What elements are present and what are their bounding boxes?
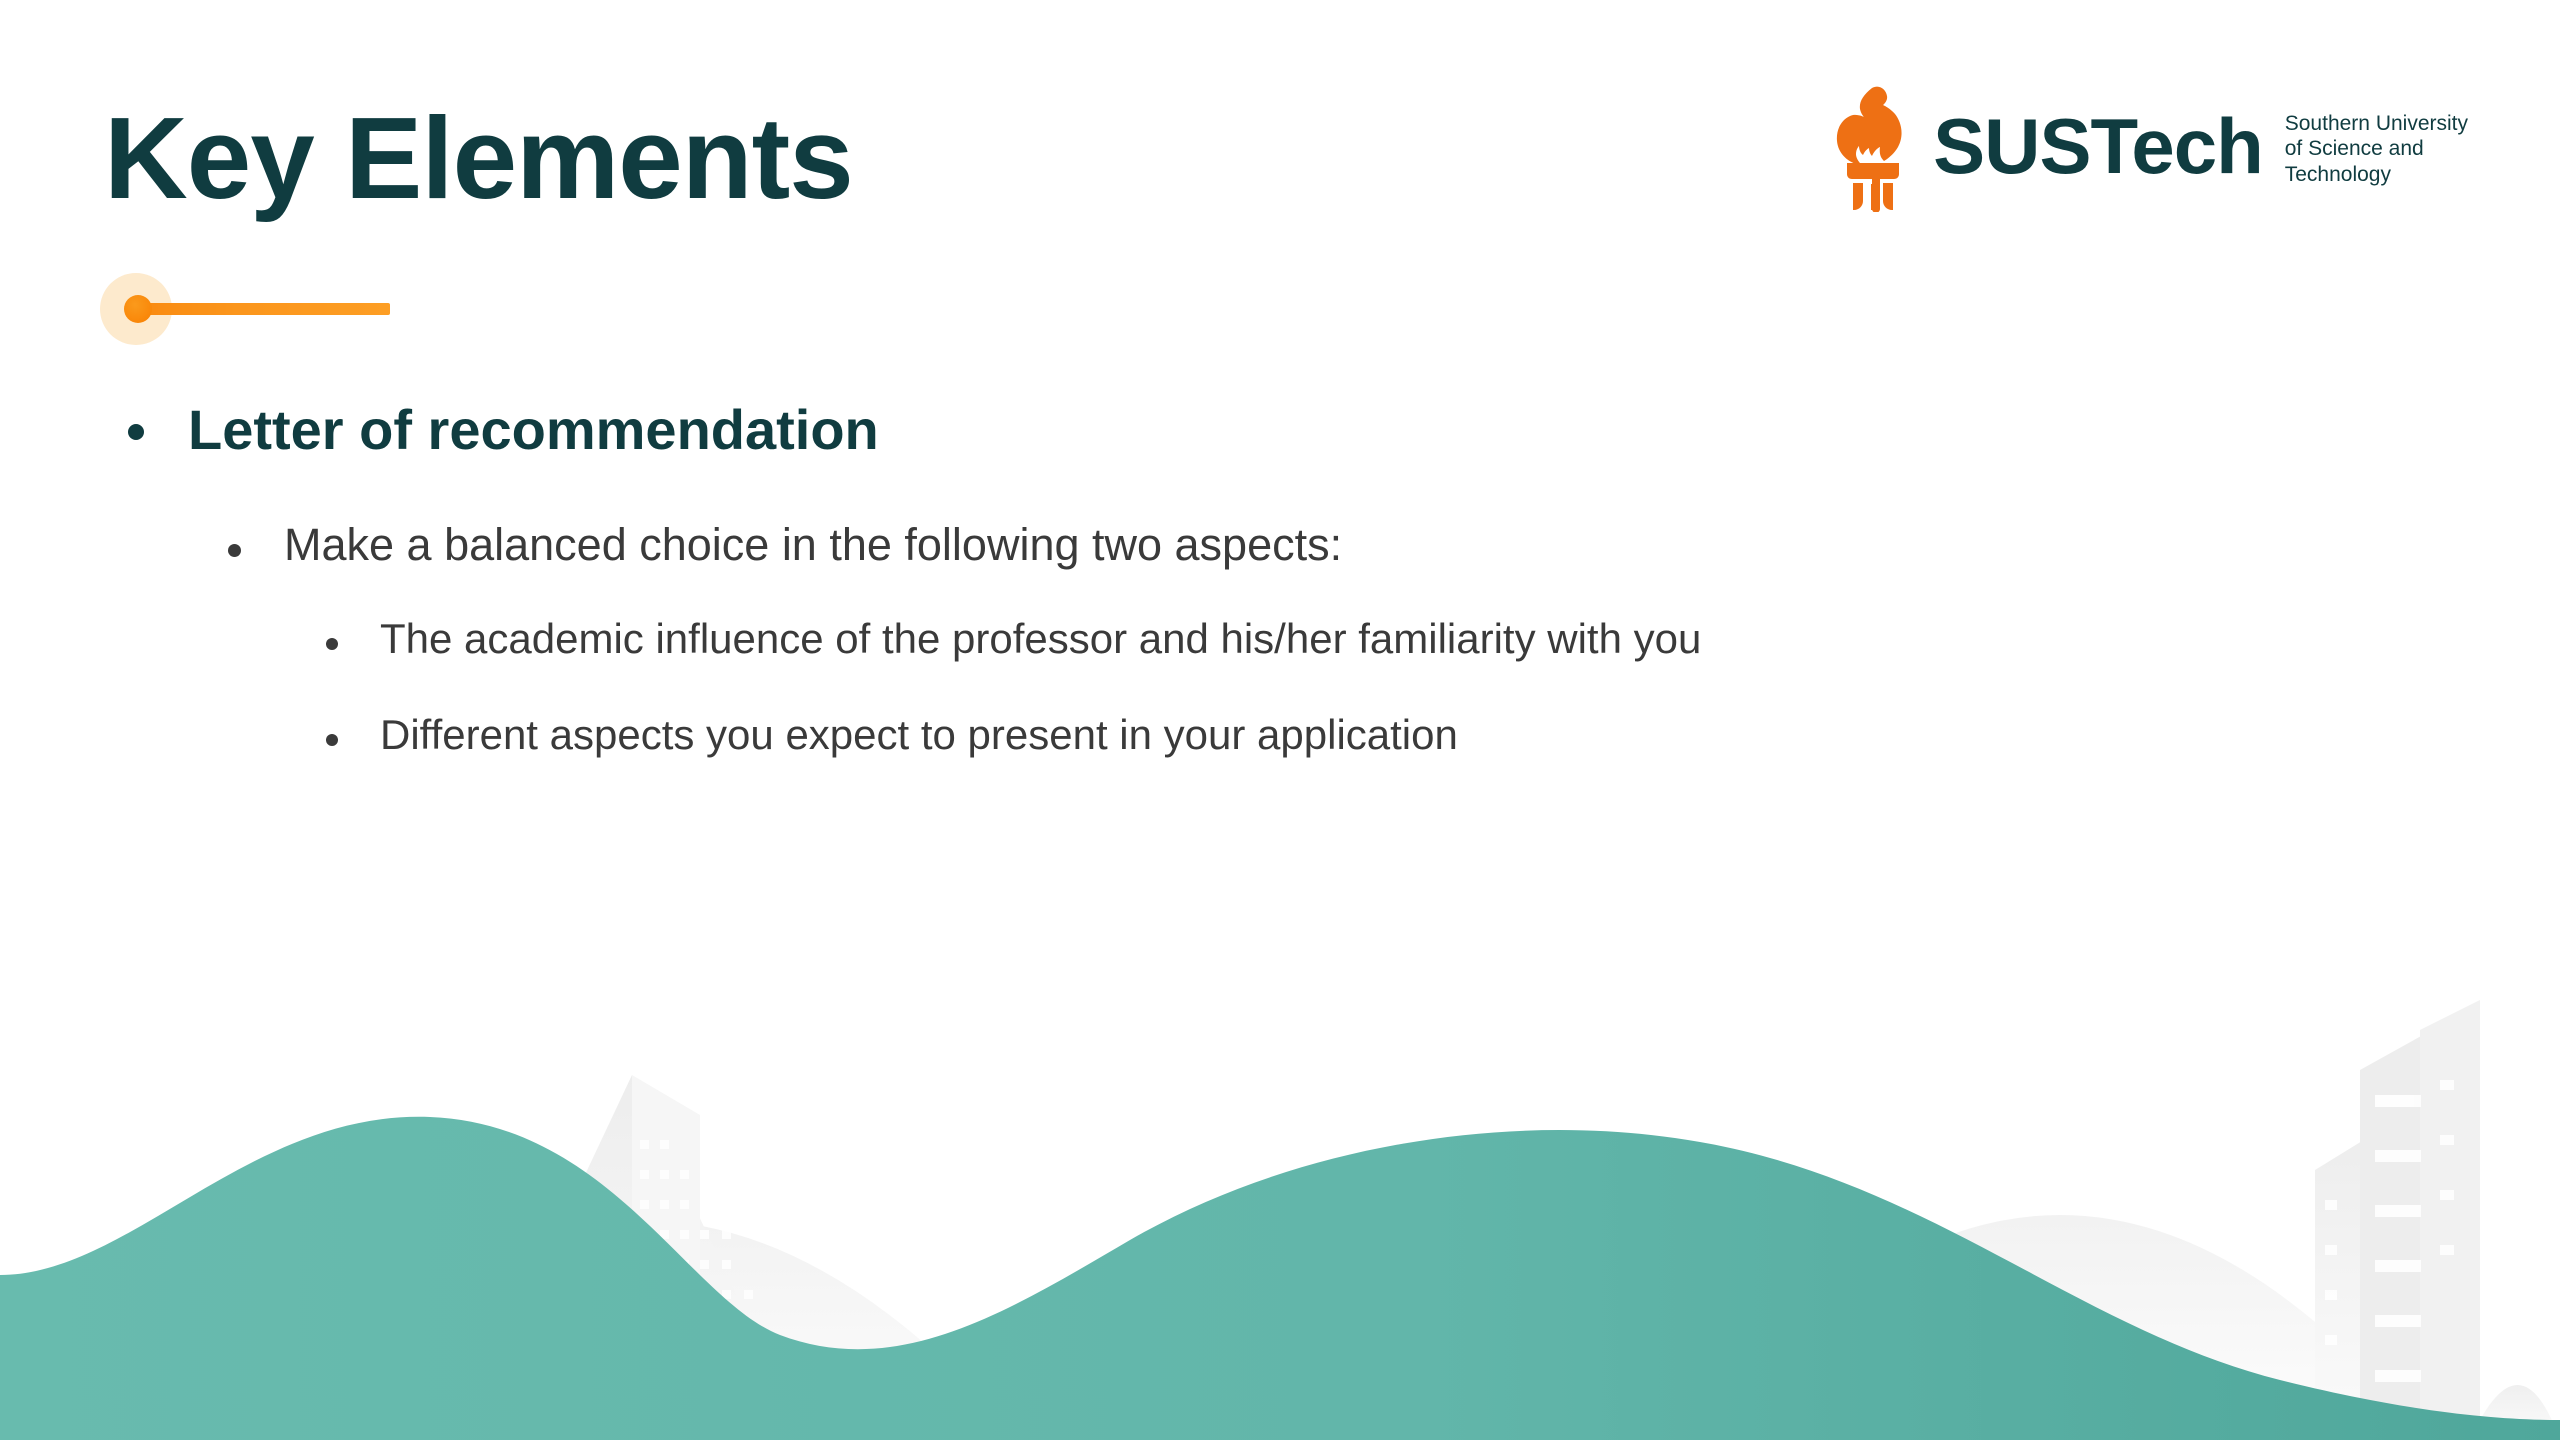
torch-icon (1827, 84, 1919, 212)
bullet-marker-icon (326, 734, 338, 746)
logo-wordmark: SUSTech (1933, 107, 2263, 185)
hill-left-with-pyramid (255, 1075, 1020, 1440)
accent-dot (124, 295, 152, 323)
bullet-level3-item-2: Different aspects you expect to present … (0, 710, 2560, 806)
teal-wave (0, 1117, 2560, 1440)
background-decoration (0, 880, 2560, 1440)
logo-tagline-line-3: Technology (2285, 162, 2468, 188)
campus-building-center (1390, 1180, 1730, 1440)
bullet-level1-text: Letter of recommendation (188, 398, 879, 463)
logo-tagline: Southern University of Science and Techn… (2285, 111, 2468, 188)
logo-tagline-line-1: Southern University (2285, 111, 2468, 137)
hill-far-left (100, 1285, 265, 1440)
bullet-level3-text: The academic influence of the professor … (380, 614, 1701, 664)
page-title: Key Elements (104, 100, 853, 216)
accent-bar (136, 303, 390, 315)
hill-center-small (1215, 1360, 1350, 1440)
hill-right (1690, 1215, 2430, 1440)
bullet-level2-text: Make a balanced choice in the following … (284, 518, 1342, 572)
bullet-marker-icon (128, 424, 144, 440)
bullet-level1: Letter of recommendation (0, 398, 2560, 494)
slide-canvas: Key Elements SUSTech Southern University… (0, 0, 2560, 1440)
title-accent-rule (100, 268, 400, 348)
bullet-marker-icon (326, 638, 338, 650)
bullet-level3-item-1: The academic influence of the professor … (0, 614, 2560, 710)
slide-body: Letter of recommendation Make a balanced… (0, 398, 2560, 806)
logo-wordmark-sust: SUST (1933, 102, 2131, 190)
bullet-level2: Make a balanced choice in the following … (0, 518, 2560, 614)
bullet-marker-icon (228, 544, 241, 557)
logo-wordmark-ech: ech (2131, 102, 2262, 190)
city-towers-right (2315, 1000, 2560, 1440)
sustech-logo: SUSTech Southern University of Science a… (1827, 84, 2468, 212)
logo-tagline-line-2: of Science and (2285, 136, 2468, 162)
bullet-level3-text: Different aspects you expect to present … (380, 710, 1458, 760)
